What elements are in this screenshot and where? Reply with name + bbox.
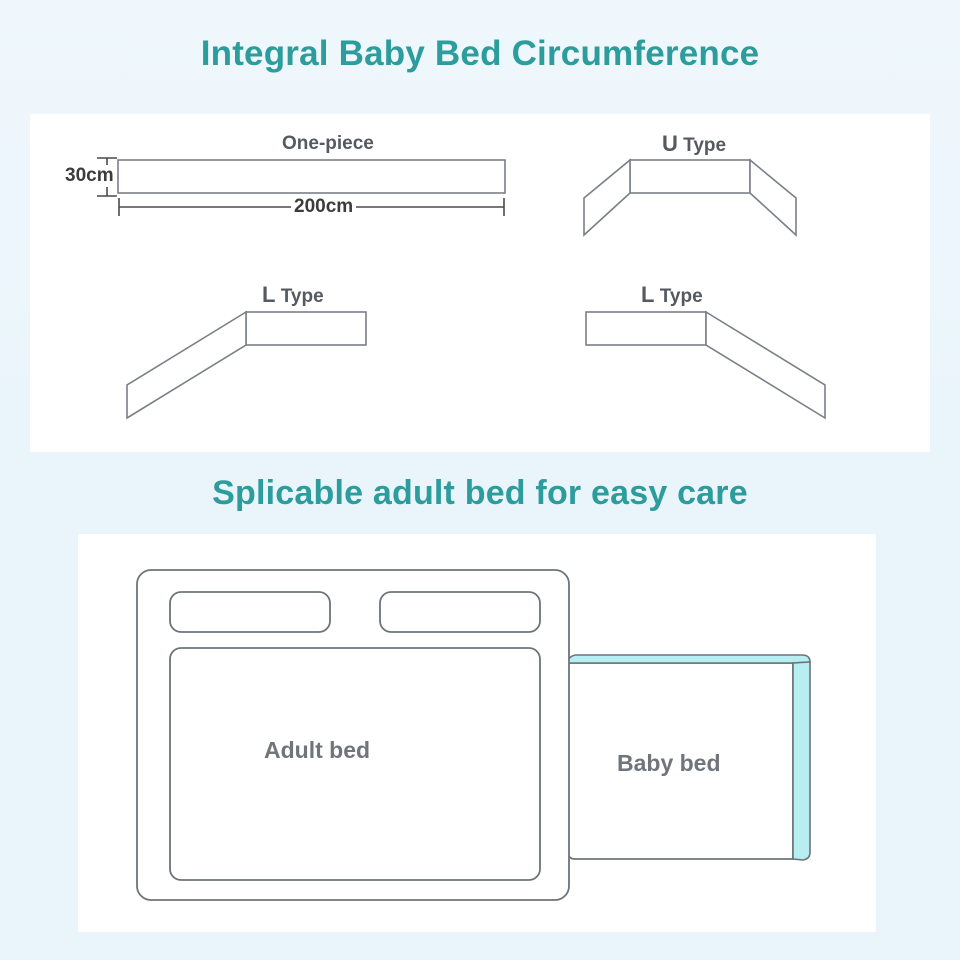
baby-bed-right-edge [793,662,810,860]
baby-bed-label: Baby bed [617,750,721,777]
adult-bed-pillow-right [380,592,540,632]
baby-bed-top-edge [568,655,810,663]
adult-bed-mattress [170,648,540,880]
adult-bed-label: Adult bed [264,737,370,764]
bottom-diagram-svg [0,0,960,960]
adult-bed-pillow-left [170,592,330,632]
product-infographic: Integral Baby Bed Circumference One-piec… [0,0,960,960]
